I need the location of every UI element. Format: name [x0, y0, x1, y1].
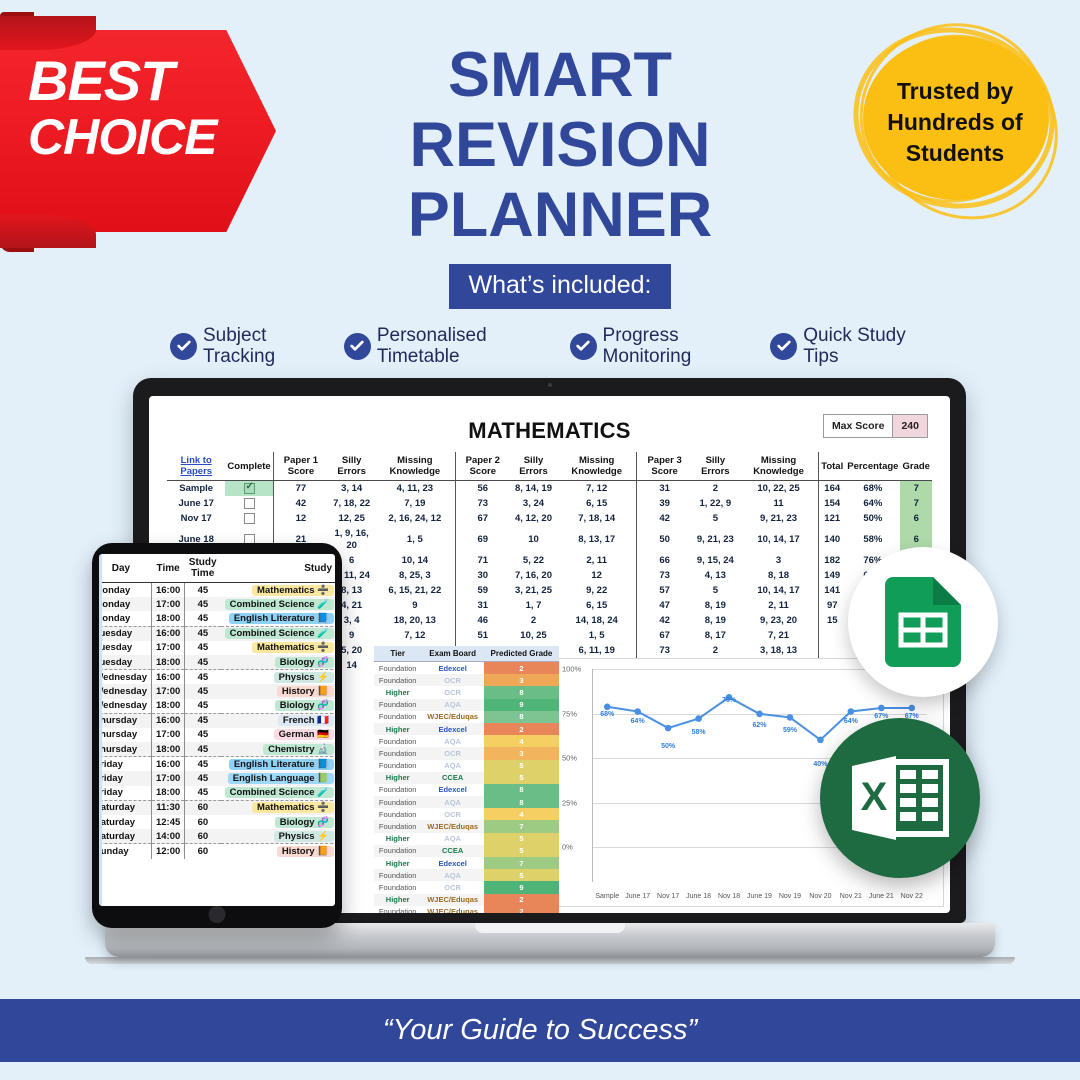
p1-missing: 8, 25, 3: [375, 568, 455, 583]
predicted-grade-value: 2: [484, 662, 559, 675]
col-day: Day: [99, 554, 151, 583]
timetable-subject: History 📙: [221, 684, 335, 698]
subject-pill: Biology 🧬: [275, 700, 334, 711]
timetable-row: Monday18:0045English Literature 📘: [99, 611, 335, 626]
subject-pill: Biology 🧬: [275, 817, 334, 828]
tier-value: Foundation: [374, 735, 421, 747]
timetable-time: 17:00: [151, 771, 184, 785]
exam-board-value: WJEC/Eduqas: [421, 820, 484, 832]
check-circle-icon: [570, 333, 597, 360]
tablet-home-button[interactable]: [209, 906, 226, 923]
max-score-value: 240: [893, 415, 927, 437]
sheets-glyph: [885, 577, 961, 667]
link-to-papers-link[interactable]: Link to Papers: [180, 455, 212, 477]
timetable-day: Tuesday: [99, 641, 151, 655]
p3-score: 50: [637, 526, 692, 553]
timetable-time: 16:00: [151, 626, 184, 641]
tier-value: Higher: [374, 857, 421, 869]
p2-missing: 8, 13, 17: [557, 526, 637, 553]
complete-cell: [225, 511, 273, 526]
predicted-grade-value: 8: [484, 784, 559, 796]
p3-missing: 11: [739, 496, 819, 511]
p3-missing: 10, 14, 17: [739, 526, 819, 553]
p2-silly: 1, 7: [510, 598, 557, 613]
timetable-study-minutes: 45: [185, 742, 221, 757]
x-axis-tick: Nov 20: [805, 893, 835, 900]
microsoft-excel-icon[interactable]: X: [820, 718, 980, 878]
timetable-study-minutes: 45: [185, 626, 221, 641]
tier-table: Tier Exam Board Predicted Grade Foundati…: [374, 646, 559, 913]
feature-item-4: Quick Study Tips: [770, 325, 930, 367]
p2-score: 73: [455, 496, 510, 511]
total: 141: [819, 583, 846, 598]
timetable-study-minutes: 45: [185, 597, 221, 611]
tier-row: FoundationOCR3: [374, 674, 559, 686]
papers-row: June 17427, 18, 227, 19733, 246, 15391, …: [167, 496, 932, 511]
p3-score: 57: [637, 583, 692, 598]
predicted-grade-value: 2: [484, 723, 559, 735]
exam-board-value: AQA: [421, 760, 484, 772]
timetable-time: 12:45: [151, 815, 184, 829]
timetable-study-minutes: 45: [185, 713, 221, 728]
total: 149: [819, 568, 846, 583]
timetable-time: 16:00: [151, 757, 184, 772]
col-time: Time: [151, 554, 184, 583]
p1-silly: 7, 18, 22: [328, 496, 375, 511]
p2-missing: 1, 5: [557, 628, 637, 643]
timetable-day: Monday: [99, 611, 151, 626]
row-label: Sample: [167, 481, 225, 497]
chart-point: [848, 708, 855, 715]
timetable-day: Tuesday: [99, 655, 151, 670]
tier-table-head: Tier Exam Board Predicted Grade: [374, 646, 559, 662]
exam-board-value: AQA: [421, 699, 484, 711]
timetable-study-minutes: 45: [185, 641, 221, 655]
feature-label: Personalised Timetable: [377, 325, 554, 367]
subject-pill: English Literature 📘: [229, 759, 334, 770]
p2-score: 59: [455, 583, 510, 598]
feature-item-2: Personalised Timetable: [344, 325, 554, 367]
p2-silly: 3, 21, 25: [510, 583, 557, 598]
timetable-study-minutes: 60: [185, 815, 221, 829]
predicted-grade-value: 2: [484, 894, 559, 906]
title-line-3: PLANNER: [300, 180, 820, 250]
timetable-study-minutes: 45: [185, 684, 221, 698]
predicted-grade-value: 8: [484, 796, 559, 808]
y-axis-tick: 25%: [562, 798, 577, 807]
y-axis-tick: 75%: [562, 709, 577, 718]
timetable-study-minutes: 45: [185, 583, 221, 598]
col-complete: Complete: [225, 452, 273, 481]
p2-silly: 10: [510, 526, 557, 553]
laptop-camera-notch: [490, 378, 610, 393]
feature-item-1: Subject Tracking: [170, 325, 328, 367]
p1-missing: 7, 19: [375, 496, 455, 511]
timetable-subject: Mathematics ➗: [221, 583, 335, 598]
subject-pill: History 📙: [277, 846, 334, 857]
grade: 7: [900, 481, 932, 497]
timetable-day: Tuesday: [99, 626, 151, 641]
tier-row: HigherOCR8: [374, 686, 559, 698]
exam-board-value: Edexcel: [421, 857, 484, 869]
google-sheets-icon[interactable]: [848, 547, 998, 697]
subject-pill: Biology 🧬: [275, 657, 334, 668]
p3-score: 73: [637, 643, 692, 658]
x-axis-tick: Nov 19: [775, 893, 805, 900]
timetable-day: Wednesday: [99, 670, 151, 685]
predicted-grade-value: 5: [484, 760, 559, 772]
subject-pill: English Literature 📘: [229, 613, 334, 624]
col-p1-missing: Missing Knowledge: [375, 452, 455, 481]
tier-value: Higher: [374, 833, 421, 845]
chart-data-label: 50%: [661, 743, 675, 750]
timetable-row: Friday17:0045English Language 📗: [99, 771, 335, 785]
timetable-day: Monday: [99, 583, 151, 598]
p3-score: 42: [637, 613, 692, 628]
timetable-row: Thursday17:0045German 🇩🇪: [99, 728, 335, 742]
timetable-day: Monday: [99, 597, 151, 611]
p2-missing: 9, 22: [557, 583, 637, 598]
total: 182: [819, 553, 846, 568]
p1-missing: 1, 5: [375, 526, 455, 553]
timetable-day: Saturday: [99, 800, 151, 815]
tablet-screen: Day Time Study Time Study Monday16:0045M…: [99, 554, 335, 906]
exam-board-value: WJEC/Eduqas: [421, 906, 484, 913]
p3-missing: 8, 18: [739, 568, 819, 583]
p2-missing: 6, 11, 19: [557, 643, 637, 658]
tier-value: Foundation: [374, 711, 421, 723]
tier-row: FoundationOCR3: [374, 747, 559, 759]
chart-point: [817, 737, 824, 744]
tier-value: Foundation: [374, 881, 421, 893]
timetable-study-minutes: 45: [185, 728, 221, 742]
p3-silly: 5: [692, 511, 739, 526]
predicted-grade-value: 5: [484, 833, 559, 845]
predicted-grade-value: 5: [484, 845, 559, 857]
p3-silly: 9, 21, 23: [692, 526, 739, 553]
timetable-day: Wednesday: [99, 699, 151, 714]
total: 164: [819, 481, 846, 497]
col-p2-missing: Missing Knowledge: [557, 452, 637, 481]
timetable-time: 17:00: [151, 641, 184, 655]
chart-point: [908, 705, 915, 712]
col-exam-board: Exam Board: [421, 646, 484, 662]
p2-missing: 6, 15: [557, 496, 637, 511]
total: [819, 643, 846, 658]
predicted-grade-value: 3: [484, 674, 559, 686]
subject-pill: German 🇩🇪: [274, 729, 334, 740]
timetable-study-minutes: 60: [185, 844, 221, 859]
tier-row: FoundationCCEA5: [374, 845, 559, 857]
tier-row: FoundationAQA9: [374, 699, 559, 711]
timetable-subject: Mathematics ➗: [221, 641, 335, 655]
timetable-study-minutes: 60: [185, 829, 221, 844]
grade: 6: [900, 511, 932, 526]
timetable-subject: Mathematics ➗: [221, 800, 335, 815]
timetable-subject: English Language 📗: [221, 771, 335, 785]
x-axis-tick: June 17: [622, 893, 652, 900]
p2-score: 71: [455, 553, 510, 568]
whats-included-badge: What’s included:: [449, 264, 672, 309]
tier-value: Foundation: [374, 808, 421, 820]
timetable-day: Friday: [99, 757, 151, 772]
p3-missing: 9, 23, 20: [739, 613, 819, 628]
tier-row: FoundationAQA4: [374, 735, 559, 747]
timetable-row: Tuesday17:0045Mathematics ➗: [99, 641, 335, 655]
chart-data-label: 58%: [692, 729, 706, 736]
timetable-time: 11:30: [151, 800, 184, 815]
svg-text:X: X: [861, 775, 888, 819]
p3-score: 73: [637, 568, 692, 583]
timetable-subject: Biology 🧬: [221, 699, 335, 714]
timetable-day: Thursday: [99, 742, 151, 757]
chart-data-label: 62%: [752, 722, 766, 729]
p2-missing: 12: [557, 568, 637, 583]
page-title: SMART REVISION PLANNER What’s included:: [300, 40, 820, 309]
grade: 7: [900, 496, 932, 511]
timetable-subject: History 📙: [221, 844, 335, 859]
p3-silly: 9, 15, 24: [692, 553, 739, 568]
timetable-time: 16:00: [151, 583, 184, 598]
check-icon: [776, 338, 792, 354]
subject-pill: Mathematics ➗: [252, 642, 334, 653]
timetable-subject: Biology 🧬: [221, 815, 335, 829]
timetable-time: 17:00: [151, 728, 184, 742]
p3-missing: 2, 11: [739, 598, 819, 613]
timetable-row: Wednesday16:0045Physics ⚡: [99, 670, 335, 685]
spreadsheet-header: MATHEMATICS Max Score 240: [167, 418, 932, 446]
exam-board-value: CCEA: [421, 845, 484, 857]
predicted-grade-value: 8: [484, 686, 559, 698]
total: 97: [819, 598, 846, 613]
predicted-grade-value: 9: [484, 699, 559, 711]
tier-row: FoundationWJEC/Eduqas8: [374, 711, 559, 723]
tier-value: Higher: [374, 772, 421, 784]
p3-silly: 8, 19: [692, 613, 739, 628]
p3-silly: 8, 17: [692, 628, 739, 643]
chart-point: [787, 714, 794, 721]
exam-board-value: Edexcel: [421, 723, 484, 735]
timetable-day: Sunday: [99, 844, 151, 859]
timetable-row: Friday16:0045English Literature 📘: [99, 757, 335, 772]
x-axis-labels: SampleJune 17Nov 17June 18Nov 18June 19N…: [592, 893, 927, 900]
chart-point: [604, 703, 611, 710]
tier-value: Foundation: [374, 820, 421, 832]
tier-row: FoundationAQA8: [374, 796, 559, 808]
title-line-1: SMART: [300, 40, 820, 110]
p1-score: 77: [273, 481, 328, 497]
timetable-time: 17:00: [151, 597, 184, 611]
timetable-head: Day Time Study Time Study: [99, 554, 335, 583]
timetable-day: Friday: [99, 786, 151, 801]
p3-missing: 10, 14, 17: [739, 583, 819, 598]
exam-board-value: AQA: [421, 735, 484, 747]
timetable-study-minutes: 45: [185, 757, 221, 772]
exam-board-value: AQA: [421, 833, 484, 845]
timetable-subject: German 🇩🇪: [221, 728, 335, 742]
tier-value: Foundation: [374, 747, 421, 759]
subject-pill: Combined Science 🧪: [225, 787, 334, 798]
laptop-base: [105, 923, 995, 957]
timetable-header-row: Day Time Study Time Study: [99, 554, 335, 583]
total: 140: [819, 526, 846, 553]
p2-score: 67: [455, 511, 510, 526]
predicted-grade-value: 7: [484, 820, 559, 832]
timetable-subject: English Literature 📘: [221, 611, 335, 626]
exam-board-value: Edexcel: [421, 784, 484, 796]
p3-score: 31: [637, 481, 692, 497]
p2-score: 30: [455, 568, 510, 583]
subject-pill: English Language 📗: [228, 773, 334, 784]
best-choice-ribbon: BEST CHOICE: [0, 12, 290, 252]
tier-row: FoundationWJEC/Eduqas2: [374, 906, 559, 913]
complete-checkbox[interactable]: [244, 498, 255, 509]
chart-point: [695, 715, 702, 722]
feature-label: Progress Monitoring: [603, 325, 755, 367]
complete-cell: [225, 496, 273, 511]
percentage: 68%: [845, 481, 900, 497]
exam-board-value: OCR: [421, 686, 484, 698]
p2-missing: 6, 15: [557, 598, 637, 613]
percentage: 58%: [845, 526, 900, 553]
timetable-time: 18:00: [151, 786, 184, 801]
p3-silly: 8, 19: [692, 598, 739, 613]
y-axis-tick: 0%: [562, 843, 573, 852]
timetable-row: Sunday12:0060History 📙: [99, 844, 335, 859]
col-percentage: Percentage: [845, 452, 900, 481]
complete-checkbox[interactable]: [244, 483, 255, 494]
timetable-time: 17:00: [151, 684, 184, 698]
p1-missing: 7, 12: [375, 628, 455, 643]
tier-row: HigherWJEC/Eduqas2: [374, 894, 559, 906]
stamp-line-2: Hundreds of: [887, 107, 1022, 138]
feature-label: Quick Study Tips: [803, 325, 930, 367]
total: 121: [819, 511, 846, 526]
stamp-line-3: Students: [906, 138, 1004, 169]
p2-missing: 7, 18, 14: [557, 511, 637, 526]
predicted-grade-value: 5: [484, 869, 559, 881]
predicted-grade-value: 4: [484, 735, 559, 747]
p3-score: 39: [637, 496, 692, 511]
y-axis-tick: 100%: [562, 665, 581, 674]
timetable-day: Saturday: [99, 815, 151, 829]
p2-score: 56: [455, 481, 510, 497]
footer-text: “Your Guide to Success”: [383, 1014, 697, 1047]
subject-pill: Mathematics ➗: [252, 802, 334, 813]
chart-point: [878, 705, 885, 712]
p1-score: 42: [273, 496, 328, 511]
percentage: 50%: [845, 511, 900, 526]
exam-board-value: AQA: [421, 869, 484, 881]
p3-missing: 3, 18, 13: [739, 643, 819, 658]
timetable-subject: French 🇫🇷: [221, 713, 335, 728]
tablet-mockup: Day Time Study Time Study Monday16:0045M…: [92, 543, 342, 928]
ribbon-line-1: BEST: [28, 52, 238, 110]
timetable-subject: Physics ⚡: [221, 829, 335, 844]
timetable-time: 12:00: [151, 844, 184, 859]
feature-label: Subject Tracking: [203, 325, 328, 367]
laptop-base-foot: [85, 957, 1015, 964]
tier-value: Foundation: [374, 760, 421, 772]
stamp-line-1: Trusted by: [897, 76, 1013, 107]
timetable-subject: Combined Science 🧪: [221, 626, 335, 641]
timetable-subject: Chemistry 🔬: [221, 742, 335, 757]
timetable-row: Thursday16:0045French 🇫🇷: [99, 713, 335, 728]
chart-data-label: 59%: [783, 727, 797, 734]
col-study: Study: [221, 554, 335, 583]
x-axis-tick: Sample: [592, 893, 622, 900]
exam-board-value: OCR: [421, 881, 484, 893]
p3-missing: 10, 22, 25: [739, 481, 819, 497]
chart-point: [665, 725, 672, 732]
chart-data-label: 64%: [844, 718, 858, 725]
p1-score: 12: [273, 511, 328, 526]
total: 154: [819, 496, 846, 511]
subject-pill: Combined Science 🧪: [225, 599, 334, 610]
exam-board-value: CCEA: [421, 772, 484, 784]
check-icon: [575, 338, 591, 354]
timetable-subject: Biology 🧬: [221, 655, 335, 670]
timetable-day: Wednesday: [99, 684, 151, 698]
ribbon-line-2: CHOICE: [28, 110, 238, 164]
p3-missing: 3: [739, 553, 819, 568]
feature-list: Subject TrackingPersonalised TimetablePr…: [170, 325, 930, 367]
percentage: 64%: [845, 496, 900, 511]
row-label: June 17: [167, 496, 225, 511]
timetable-row: Thursday18:0045Chemistry 🔬: [99, 742, 335, 757]
exam-board-value: OCR: [421, 808, 484, 820]
check-circle-icon: [344, 333, 371, 360]
y-axis-tick: 50%: [562, 754, 577, 763]
check-circle-icon: [170, 333, 197, 360]
timetable-day: Friday: [99, 771, 151, 785]
exam-board-value: AQA: [421, 796, 484, 808]
timetable-row: Monday16:0045Mathematics ➗: [99, 583, 335, 598]
p2-silly: 7, 16, 20: [510, 568, 557, 583]
tier-row: HigherAQA5: [374, 833, 559, 845]
col-p1-silly: Silly Errors: [328, 452, 375, 481]
p2-score: 69: [455, 526, 510, 553]
col-link: Link to Papers: [167, 452, 225, 481]
timetable-row: Tuesday16:0045Combined Science 🧪: [99, 626, 335, 641]
p3-score: 67: [637, 628, 692, 643]
tier-value: Foundation: [374, 845, 421, 857]
complete-checkbox[interactable]: [244, 513, 255, 524]
exam-board-value: WJEC/Eduqas: [421, 894, 484, 906]
timetable-subject: Combined Science 🧪: [221, 786, 335, 801]
x-axis-tick: Nov 21: [836, 893, 866, 900]
subject-pill: Mathematics ➗: [252, 585, 334, 596]
papers-table-head: Link to Papers Complete Paper 1 Score Si…: [167, 452, 932, 481]
col-predicted-grade: Predicted Grade: [484, 646, 559, 662]
col-p3-silly: Silly Errors: [692, 452, 739, 481]
tier-row: HigherCCEA5: [374, 772, 559, 784]
p3-silly: 2: [692, 481, 739, 497]
tier-value: Foundation: [374, 784, 421, 796]
p1-missing: 9: [375, 598, 455, 613]
p2-missing: 2, 11: [557, 553, 637, 568]
trust-badge: Trusted by Hundreds of Students: [845, 22, 1065, 222]
check-circle-icon: [770, 333, 797, 360]
p1-missing: 4, 11, 23: [375, 481, 455, 497]
p3-silly: 4, 13: [692, 568, 739, 583]
tier-table-panel: Tier Exam Board Predicted Grade Foundati…: [374, 646, 559, 913]
tier-value: Foundation: [374, 796, 421, 808]
x-axis-tick: June 18: [683, 893, 713, 900]
tier-value: Foundation: [374, 906, 421, 913]
timetable-day: Thursday: [99, 713, 151, 728]
x-axis-tick: Nov 22: [897, 893, 927, 900]
